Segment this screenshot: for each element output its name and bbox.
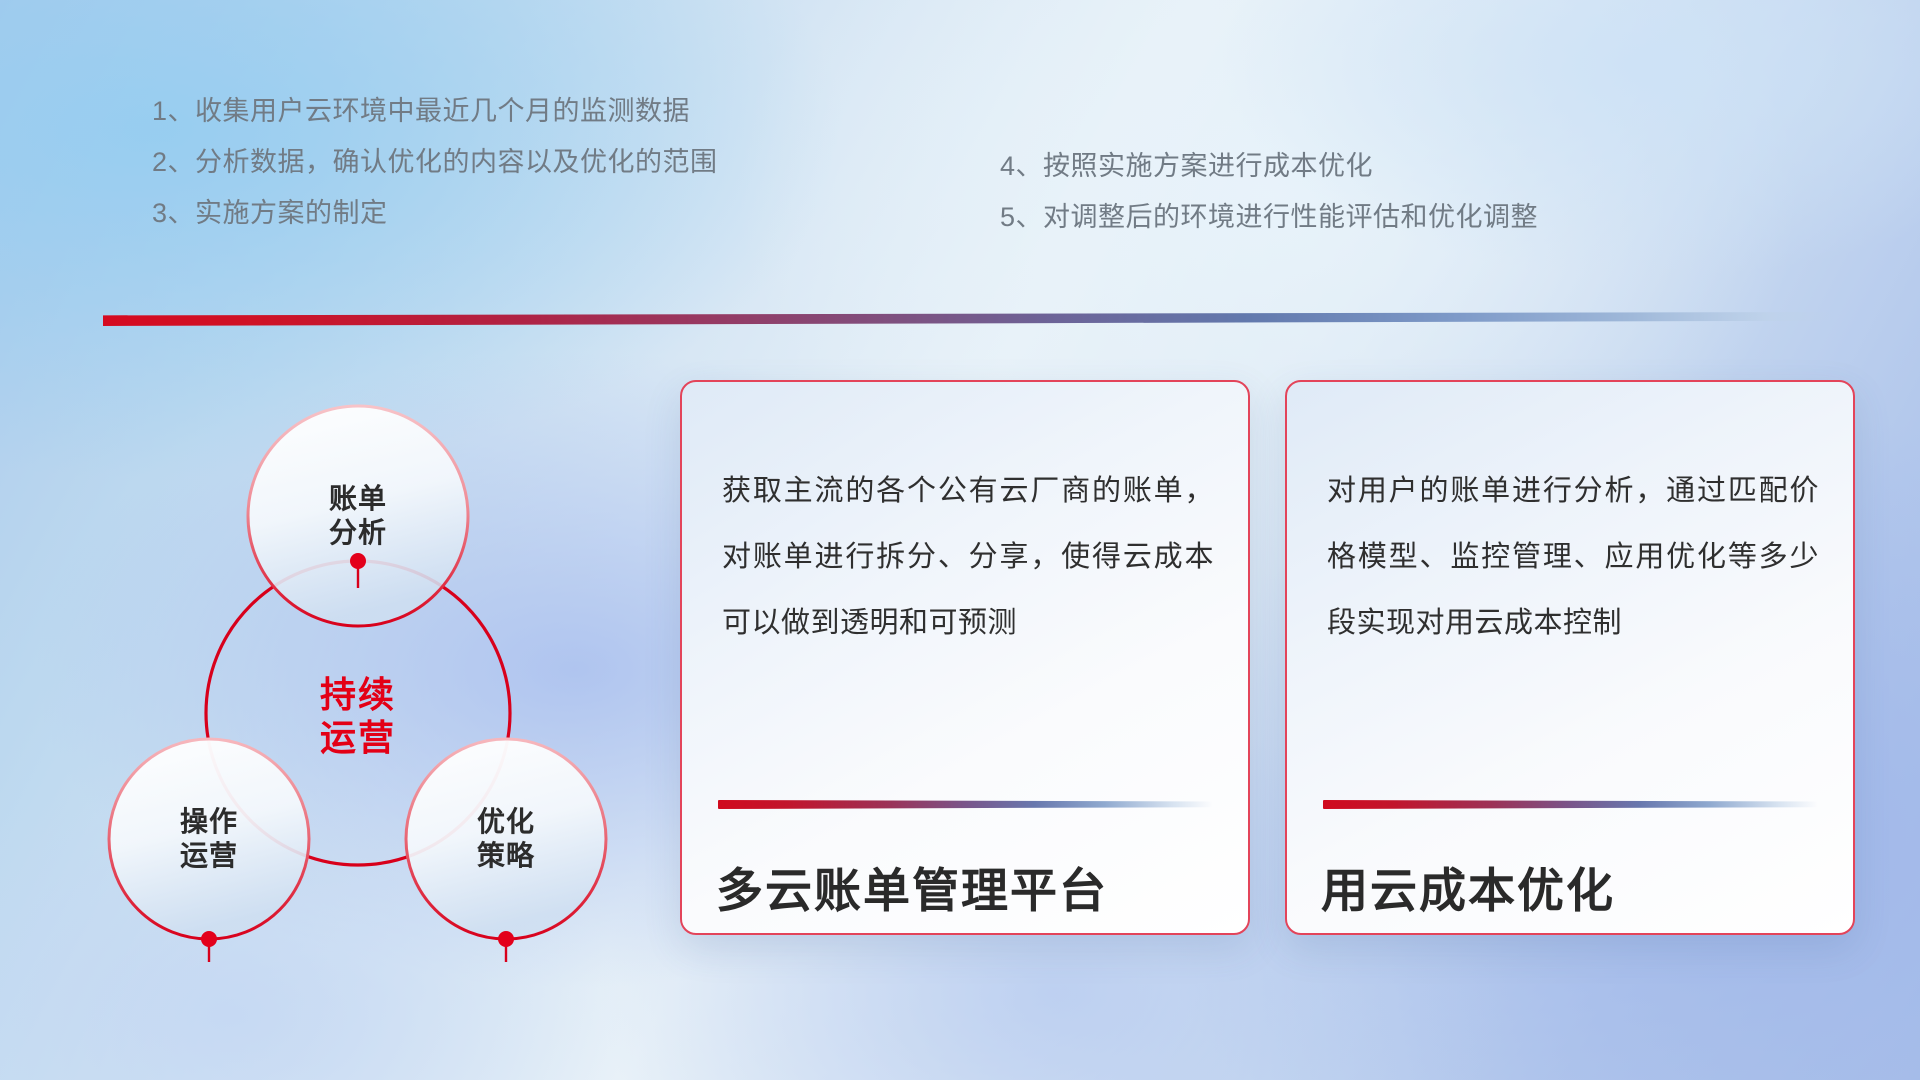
connector-dot-top xyxy=(350,553,366,569)
cycle-diagram: 账单 分析 持续 运营 操作 运营 优化 策略 xyxy=(96,356,616,956)
card-title: 用云成本优化 xyxy=(1321,852,1829,921)
card-multi-cloud-bill-platform[interactable]: 获取主流的各个公有云厂商的账单，对账单进行拆分、分享，使得云成本可以做到透明和可… xyxy=(680,380,1250,935)
slide-canvas: 1、收集用户云环境中最近几个月的监测数据 2、分析数据，确认优化的内容以及优化的… xyxy=(0,0,1920,1080)
cycle-node-label-bottom-left: 操作 运营 xyxy=(180,805,238,873)
cycle-node-label-top: 账单 分析 xyxy=(329,482,387,550)
connector-dot-bottom-left xyxy=(201,931,217,947)
card-accent-rule xyxy=(1323,800,1818,809)
bullet-item-2: 2、分析数据，确认优化的内容以及优化的范围 xyxy=(152,149,718,176)
connector-dot-bottom-right xyxy=(498,931,514,947)
cycle-center-label: 持续 运营 xyxy=(320,673,396,759)
card-accent-rule xyxy=(718,800,1213,809)
bullet-item-1: 1、收集用户云环境中最近几个月的监测数据 xyxy=(152,98,718,125)
card-cloud-cost-optimization[interactable]: 对用户的账单进行分析，通过匹配价格模型、监控管理、应用优化等多少段实现对用云成本… xyxy=(1285,380,1855,935)
bullet-item-5: 5、对调整后的环境进行性能评估和优化调整 xyxy=(1000,204,1538,231)
card-body-text: 获取主流的各个公有云厂商的账单，对账单进行拆分、分享，使得云成本可以做到透明和可… xyxy=(722,458,1214,656)
bullet-list-left: 1、收集用户云环境中最近几个月的监测数据 2、分析数据，确认优化的内容以及优化的… xyxy=(152,98,718,251)
bullet-list-right: 4、按照实施方案进行成本优化 5、对调整后的环境进行性能评估和优化调整 xyxy=(1000,153,1538,255)
cycle-node-label-bottom-right: 优化 策略 xyxy=(477,805,535,873)
card-body-text: 对用户的账单进行分析，通过匹配价格模型、监控管理、应用优化等多少段实现对用云成本… xyxy=(1327,458,1819,656)
bullet-item-4: 4、按照实施方案进行成本优化 xyxy=(1000,153,1538,180)
bullet-item-3: 3、实施方案的制定 xyxy=(152,200,718,227)
card-title: 多云账单管理平台 xyxy=(716,852,1224,921)
